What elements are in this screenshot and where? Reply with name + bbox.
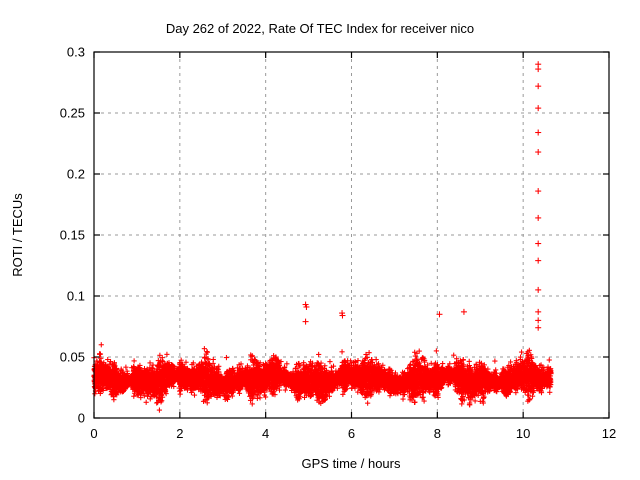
chart-title: Day 262 of 2022, Rate Of TEC Index for r… (166, 21, 474, 36)
x-tick-label: 10 (516, 426, 530, 441)
x-tick-label: 12 (602, 426, 616, 441)
y-tick-label: 0.2 (67, 167, 85, 182)
x-tick-label: 2 (176, 426, 183, 441)
x-tick-label: 0 (90, 426, 97, 441)
y-tick-label: 0.3 (67, 45, 85, 60)
y-tick-label: 0 (78, 411, 85, 426)
x-tick-label: 6 (348, 426, 355, 441)
roti-scatter-plot: Day 262 of 2022, Rate Of TEC Index for r… (0, 0, 640, 480)
chart-canvas: Day 262 of 2022, Rate Of TEC Index for r… (0, 0, 640, 480)
x-axis-title: GPS time / hours (302, 456, 401, 471)
x-tick-label: 4 (262, 426, 269, 441)
plot-background (0, 0, 640, 480)
y-tick-label: 0.15 (60, 228, 85, 243)
x-tick-label: 8 (434, 426, 441, 441)
y-tick-label: 0.25 (60, 106, 85, 121)
y-axis-title: ROTI / TECUs (10, 193, 25, 277)
y-tick-label: 0.05 (60, 350, 85, 365)
y-tick-label: 0.1 (67, 289, 85, 304)
